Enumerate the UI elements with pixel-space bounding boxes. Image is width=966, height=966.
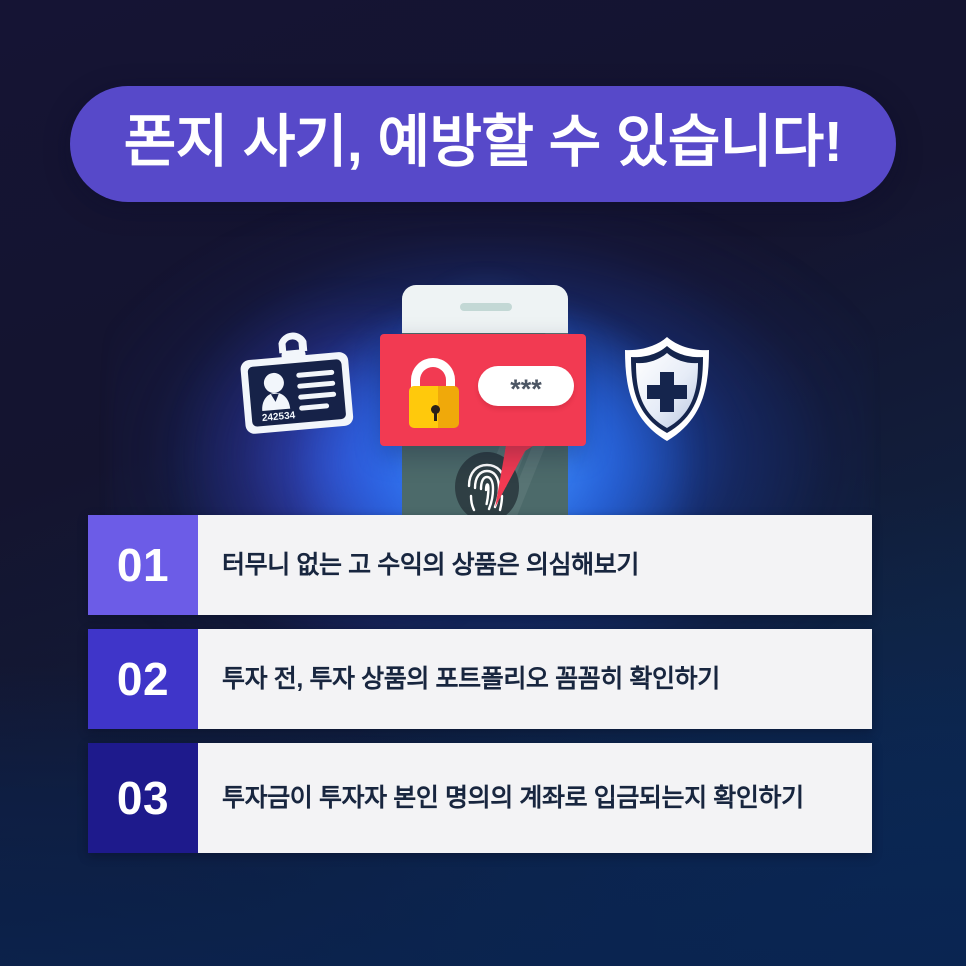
list-item[interactable]: 03 투자금이 투자자 본인 명의의 계좌로 입금되는지 확인하기: [88, 743, 872, 853]
tip-text: 투자금이 투자자 본인 명의의 계좌로 입금되는지 확인하기: [198, 743, 872, 853]
tip-number-badge: 03: [88, 743, 198, 853]
tip-number-badge: 01: [88, 515, 198, 615]
list-item[interactable]: 01 터무니 없는 고 수익의 상품은 의심해보기: [88, 515, 872, 615]
tip-text: 터무니 없는 고 수익의 상품은 의심해보기: [198, 515, 872, 615]
tip-number-badge: 02: [88, 629, 198, 729]
tips-list: 01 터무니 없는 고 수익의 상품은 의심해보기 02 투자 전, 투자 상품…: [0, 0, 966, 966]
tip-text: 투자 전, 투자 상품의 포트폴리오 꼼꼼히 확인하기: [198, 629, 872, 729]
list-item[interactable]: 02 투자 전, 투자 상품의 포트폴리오 꼼꼼히 확인하기: [88, 629, 872, 729]
infographic-card: 폰지 사기, 예방할 수 있습니다!: [0, 0, 966, 966]
